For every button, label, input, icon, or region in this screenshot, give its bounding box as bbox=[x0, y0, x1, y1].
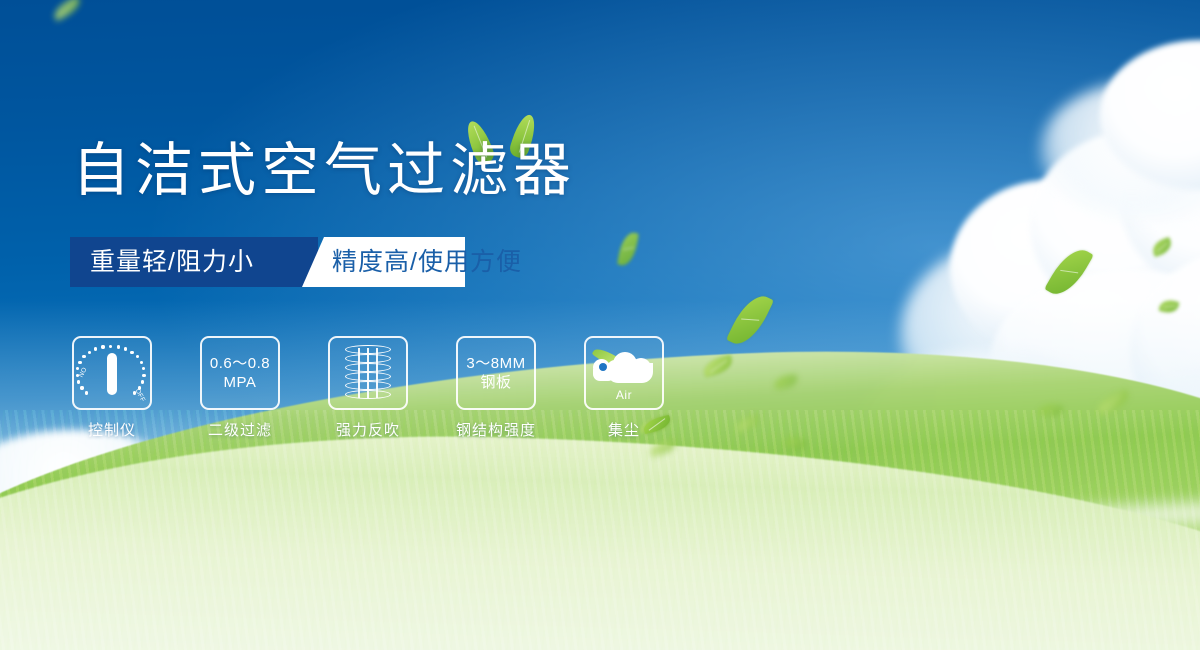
feature-icon-box: 0.6～0.8 MPA bbox=[200, 336, 280, 410]
cloud-notch bbox=[599, 363, 607, 371]
gauge-label-off: OFF bbox=[134, 388, 147, 404]
floating-leaf bbox=[1094, 389, 1131, 416]
coil-filter-icon bbox=[345, 345, 391, 401]
page-title: 自洁式空气过滤器 bbox=[72, 142, 576, 200]
air-caption: Air bbox=[593, 388, 655, 402]
cloud-cluster-upper-right bbox=[1040, 40, 1200, 210]
feature-label: 强力反吹 bbox=[328, 419, 408, 440]
cloud-puff bbox=[1070, 370, 1200, 550]
cloud-cluster-right bbox=[930, 120, 1200, 450]
feature-item-steel[interactable]: 3～8MM 钢板 钢结构强度 bbox=[456, 336, 536, 440]
horizon-cloud bbox=[620, 545, 780, 615]
feature-label: 集尘 bbox=[584, 419, 664, 440]
floating-leaf bbox=[617, 231, 639, 267]
floating-leaf bbox=[649, 439, 677, 456]
horizon-cloud bbox=[300, 470, 510, 546]
cloud-puff bbox=[1120, 100, 1200, 300]
gauge-label-no: NO bbox=[78, 366, 89, 378]
cloud-puff bbox=[1040, 80, 1200, 220]
horizon-cloud bbox=[150, 462, 320, 542]
feature-item-blowback[interactable]: 强力反吹 bbox=[328, 336, 408, 440]
floating-leaf bbox=[1150, 237, 1174, 257]
cloud-base bbox=[607, 363, 653, 383]
horizon-cloud bbox=[0, 430, 190, 540]
horizon-cloud bbox=[100, 448, 300, 543]
cloud-puff bbox=[1030, 130, 1200, 320]
cloud-puff bbox=[900, 240, 1130, 430]
gauge-pointer bbox=[107, 353, 117, 395]
floating-leaf bbox=[702, 355, 735, 378]
gauge-dial-icon: NO OFF bbox=[79, 344, 145, 402]
hill-foreground bbox=[0, 417, 1200, 650]
pressure-text-icon: 0.6～0.8 MPA bbox=[210, 354, 270, 392]
floating-leaf bbox=[774, 375, 797, 389]
cloud-puff bbox=[1100, 40, 1200, 190]
cloud-puff bbox=[860, 350, 1120, 510]
floating-leaf bbox=[1159, 298, 1180, 315]
feature-icon-box: NO OFF bbox=[72, 336, 152, 410]
cloud-puff bbox=[990, 270, 1200, 450]
subtitle-left-text: 重量轻/阻力小 bbox=[90, 237, 254, 287]
horizon-cloud bbox=[600, 450, 840, 550]
horizon-cloud bbox=[1020, 480, 1200, 576]
subtitle-right-text: 精度高/使用方便 bbox=[332, 237, 522, 287]
horizon-cloud bbox=[720, 552, 910, 624]
feature-icon-box bbox=[328, 336, 408, 410]
floating-leaf bbox=[726, 289, 774, 351]
floating-leaf bbox=[51, 0, 84, 21]
grass-texture bbox=[0, 410, 1200, 650]
horizon-cloud bbox=[700, 468, 900, 548]
subtitle-bar: 重量轻/阻力小 精度高/使用方便 bbox=[70, 237, 465, 287]
horizon-cloud bbox=[860, 500, 1120, 590]
floating-leaf bbox=[784, 435, 807, 452]
feature-icon-box: 3～8MM 钢板 bbox=[456, 336, 536, 410]
cloud-puff bbox=[1130, 240, 1200, 460]
air-cloud-icon: Air bbox=[593, 347, 655, 399]
feature-label: 控制仪 bbox=[72, 419, 152, 440]
cloud-puff bbox=[950, 180, 1150, 355]
horizon-cloud bbox=[360, 452, 510, 542]
floating-leaf bbox=[1039, 404, 1062, 418]
feature-label: 钢结构强度 bbox=[456, 419, 536, 440]
product-banner: 自洁式空气过滤器 重量轻/阻力小 精度高/使用方便 bbox=[0, 0, 1200, 650]
feature-item-dust[interactable]: Air 集尘 bbox=[584, 336, 664, 440]
horizon-cloud bbox=[520, 478, 680, 540]
floating-leaf bbox=[734, 415, 761, 434]
feature-item-pressure[interactable]: 0.6～0.8 MPA 二级过滤 bbox=[200, 336, 280, 440]
feature-icon-box: Air bbox=[584, 336, 664, 410]
feature-label: 二级过滤 bbox=[200, 419, 280, 440]
steel-plate-text-icon: 3～8MM 钢板 bbox=[466, 354, 525, 392]
hill-light-stripe bbox=[0, 489, 1200, 598]
feature-list: NO OFF 控制仪 0.6～0.8 MPA 二级过滤 bbox=[72, 336, 664, 440]
feature-item-controller[interactable]: NO OFF 控制仪 bbox=[72, 336, 152, 440]
floating-leaf bbox=[1044, 242, 1094, 302]
